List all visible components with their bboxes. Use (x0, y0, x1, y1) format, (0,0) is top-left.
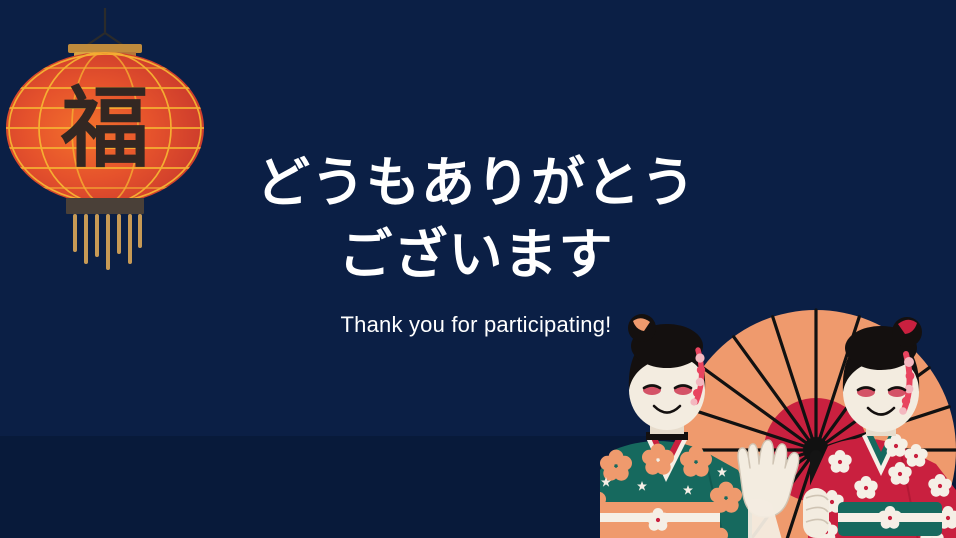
lantern-kanji-fortune: 福 (60, 77, 149, 180)
lantern-cord-icon (80, 8, 130, 50)
message-block: どうもありがとう ございます Thank you for participati… (236, 148, 716, 338)
red-lantern-illustration: 福 (0, 0, 230, 285)
lantern-tassel-icon (66, 198, 144, 268)
left-obi (600, 502, 720, 538)
right-obi (838, 502, 942, 536)
hand-holding-parasol-icon (803, 488, 829, 538)
subtitle-thank-you: Thank you for participating! (236, 312, 716, 338)
thank-you-slide: 福 (0, 0, 956, 538)
title-line-2: ございます (236, 220, 716, 292)
title-line-1: どうもありがとう (236, 148, 716, 220)
